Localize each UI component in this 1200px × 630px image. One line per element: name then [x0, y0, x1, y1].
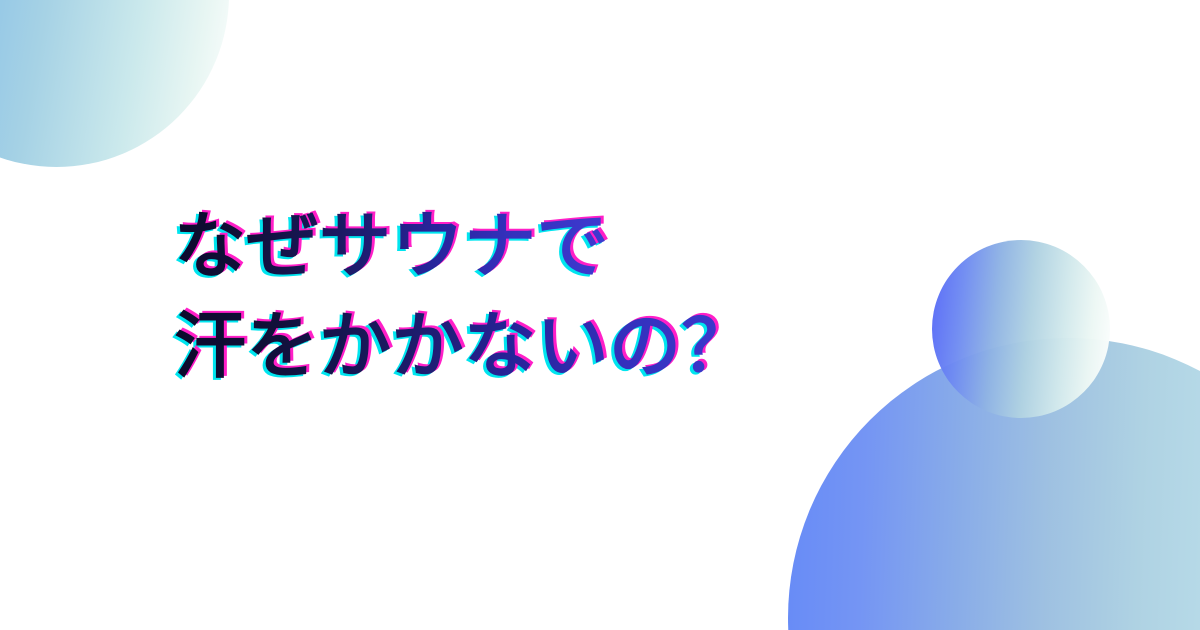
page-title: なぜサウナで なぜサウナで なぜサウナで 汗をかかないの？ 汗をかかないの？ 汗…: [174, 196, 874, 396]
title-line-1-text: なぜサウナで: [174, 204, 609, 288]
title-card-canvas: なぜサウナで なぜサウナで なぜサウナで 汗をかかないの？ 汗をかかないの？ 汗…: [0, 0, 1200, 630]
title-line-2-text: 汗をかかないの？: [174, 304, 754, 388]
bottom-right-small-gradient-circle: [932, 240, 1110, 418]
page-title-line-1: なぜサウナで なぜサウナで なぜサウナで: [174, 196, 874, 296]
top-left-gradient-circle: [0, 0, 229, 167]
page-title-line-2: 汗をかかないの？ 汗をかかないの？ 汗をかかないの？: [174, 296, 874, 396]
